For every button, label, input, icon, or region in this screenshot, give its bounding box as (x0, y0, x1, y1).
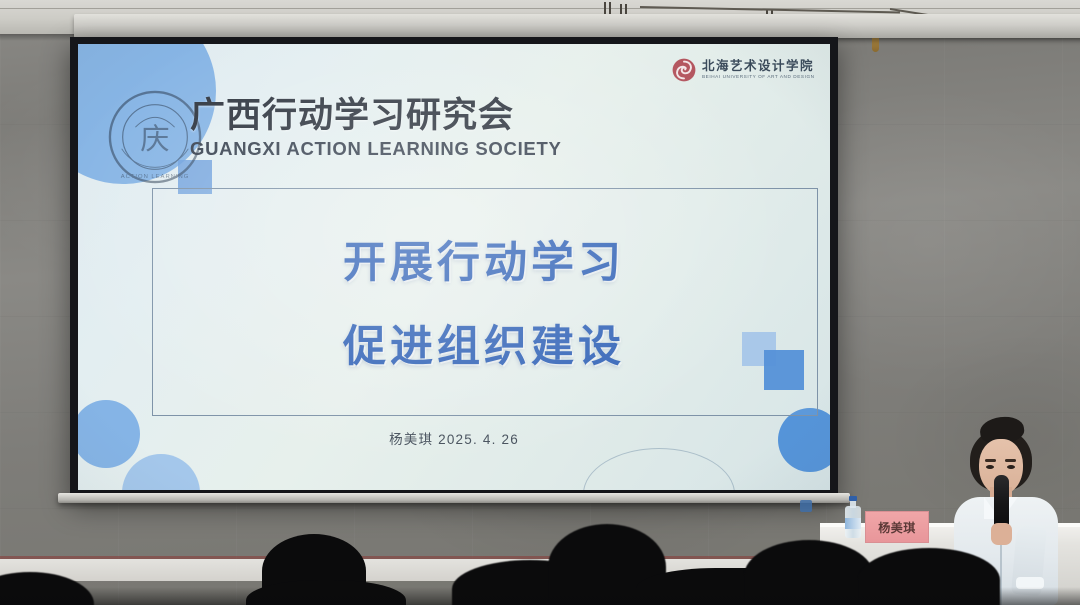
presenter-brow-left (985, 459, 996, 462)
screen-pull-weight (800, 500, 812, 512)
headline-line-1: 开展行动学习 (343, 228, 625, 290)
university-name-en: BEIHAI UNIVERSITY OF ART AND DESIGN (702, 75, 816, 80)
slide-byline: 杨美琪 2025. 4. 26 (78, 428, 830, 448)
presenter-hand (991, 523, 1012, 545)
audience-head-8 (858, 548, 1000, 605)
audience-head-7 (744, 540, 874, 605)
name-card: 杨美琪 (865, 511, 929, 543)
water-bottle (845, 496, 861, 538)
headline-line-2: 促进组织建设 (343, 312, 625, 374)
bottle-cap (849, 496, 857, 501)
university-name-cn: 北海艺术设计学院 (702, 60, 814, 73)
decor-circle-bottom-left-2 (122, 454, 200, 490)
projector-screen-roller (74, 14, 1080, 38)
university-text: 北海艺术设计学院 BEIHAI UNIVERSITY OF ART AND DE… (702, 60, 814, 80)
slide-header: 广西行动学习研究会 GUANGXI ACTION LEARNING SOCIET… (190, 96, 610, 160)
bottle-label (845, 518, 861, 529)
ceiling-seam-line (0, 8, 1080, 9)
screenshot-scene: 庆 ACTION LEARNING 广西行动学习研究会 GUANGXI ACTI… (0, 0, 1080, 605)
presenter-eye-right (1007, 465, 1015, 469)
slide-headline: 开展行动学习 促进组织建设 (152, 194, 816, 408)
microphone (994, 475, 1009, 527)
university-mark: 北海艺术设计学院 BEIHAI UNIVERSITY OF ART AND DE… (672, 58, 814, 82)
screen-bottom-bar (58, 493, 850, 503)
university-swirl-icon (672, 58, 696, 82)
society-name-cn: 广西行动学习研究会 (190, 96, 610, 135)
presentation-slide: 庆 ACTION LEARNING 广西行动学习研究会 GUANGXI ACTI… (78, 44, 830, 490)
presenter-brow-right (1005, 459, 1016, 462)
svg-text:庆: 庆 (140, 123, 169, 156)
society-name-en: GUANGXI ACTION LEARNING SOCIETY (190, 138, 610, 160)
svg-text:ACTION LEARNING: ACTION LEARNING (121, 174, 190, 180)
name-card-text: 杨美琪 (878, 519, 916, 536)
presenter-cuff (1016, 577, 1044, 589)
decor-arc (583, 448, 735, 490)
presenter-eye-left (986, 465, 994, 469)
